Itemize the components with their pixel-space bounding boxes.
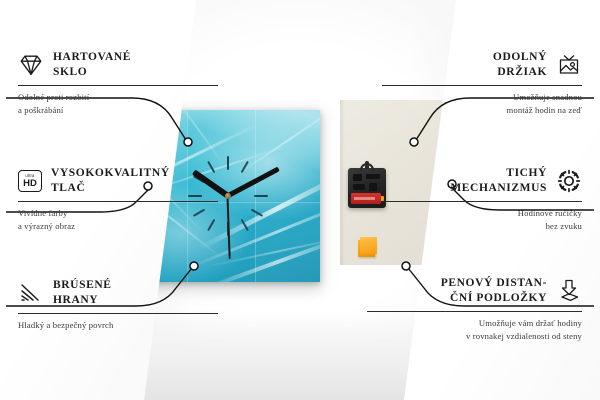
feature-description: Odolné proti rozbití a poškrábání	[18, 91, 218, 116]
clock-center-cap	[225, 193, 231, 199]
feature-title: TICHÝ MECHANIZMUS	[450, 166, 547, 196]
feature-header: HARTOVANÉ SKLO	[18, 50, 218, 80]
feature-header: BRÚSENÉ HRANY	[18, 278, 218, 308]
feature-header: PENOVÝ DISTAN- ČNÍ PODLOŽKY	[367, 276, 582, 306]
battery	[351, 193, 381, 204]
mechanism-shaft	[365, 161, 369, 169]
foam-spacer-pad	[358, 240, 375, 257]
feature-tempered-glass: HARTOVANÉ SKLO Odolné proti rozbití a po…	[18, 50, 218, 116]
feature-description: Hladký a bezpečný povrch	[18, 319, 218, 331]
clock-mechanism	[348, 168, 386, 208]
feature-description: Vivídne farby a výrazný obraz	[18, 207, 218, 232]
feature-header: TICHÝ MECHANIZMUS	[382, 166, 582, 196]
feature-divider	[367, 311, 582, 312]
feature-description: Hodinové ručičky bez zvuku	[382, 207, 582, 232]
feature-title: HARTOVANÉ SKLO	[53, 50, 131, 80]
diamond-icon	[18, 52, 44, 78]
feature-divider	[382, 85, 582, 86]
foam-pad-arrow-icon	[556, 278, 582, 304]
feature-title: ODOLNÝ DRŽIAK	[493, 50, 547, 80]
ground-edges-icon	[18, 280, 44, 306]
feature-divider	[18, 201, 218, 202]
picture-hanger-icon	[556, 52, 582, 78]
feature-hq-print: ultra HD VYSOKOKVALITNÝ TLAČ Vivídne far…	[18, 166, 218, 232]
ultra-hd-icon: ultra HD	[18, 170, 42, 192]
badge-hd-label: HD	[23, 179, 37, 189]
feature-title: PENOVÝ DISTAN- ČNÍ PODLOŽKY	[441, 276, 547, 306]
feature-header: ultra HD VYSOKOKVALITNÝ TLAČ	[18, 166, 218, 196]
feature-silent-mechanism: TICHÝ MECHANIZMUS Hodinové ručičky bez z…	[382, 166, 582, 232]
feature-title: BRÚSENÉ HRANY	[53, 278, 112, 308]
feature-foam-spacers: PENOVÝ DISTAN- ČNÍ PODLOŽKY Umožňuje vám…	[367, 276, 582, 342]
feature-description: Umožňuje snadnou montáž hodin na zeď	[382, 91, 582, 116]
feature-ground-edges: BRÚSENÉ HRANY Hladký a bezpečný povrch	[18, 278, 218, 332]
feature-divider	[382, 201, 582, 202]
feature-divider	[18, 85, 218, 86]
feature-divider	[18, 313, 218, 314]
feature-durable-hanger: ODOLNÝ DRŽIAK Umožňuje snadnou montáž ho…	[382, 50, 582, 116]
gear-icon	[556, 168, 582, 194]
infographic-stage: HARTOVANÉ SKLO Odolné proti rozbití a po…	[0, 0, 600, 400]
feature-title: VYSOKOKVALITNÝ TLAČ	[51, 166, 170, 196]
feature-description: Umožňuje vám držať hodiny v rovnakej vzd…	[367, 317, 582, 342]
feature-header: ODOLNÝ DRŽIAK	[382, 50, 582, 80]
